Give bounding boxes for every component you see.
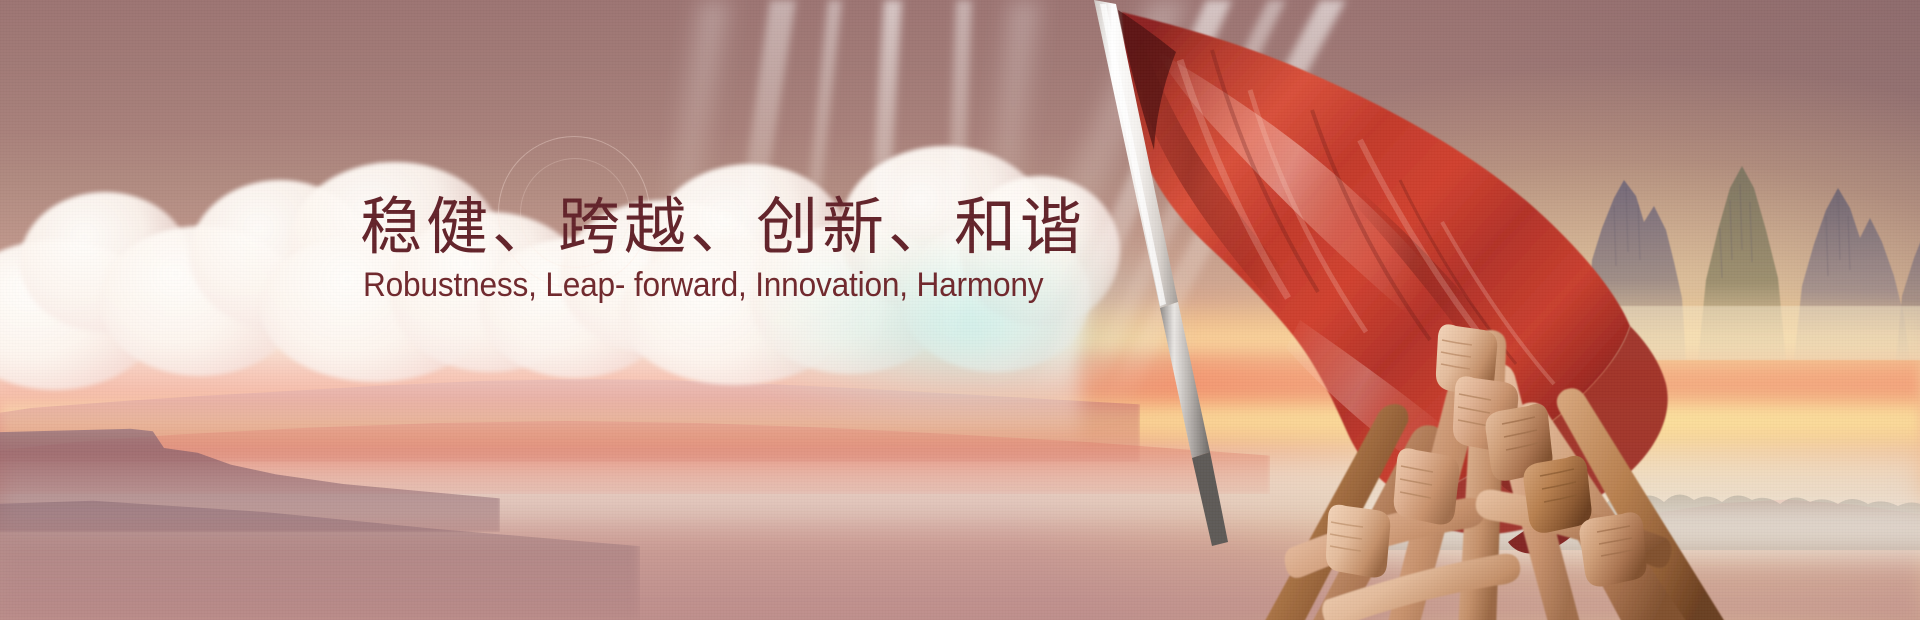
golden-valley-haze [0,0,1920,620]
birds-icon [1265,218,1325,252]
hero-banner: 稳健、跨越、创新、和谐 Robustness, Leap- forward, I… [0,0,1920,620]
